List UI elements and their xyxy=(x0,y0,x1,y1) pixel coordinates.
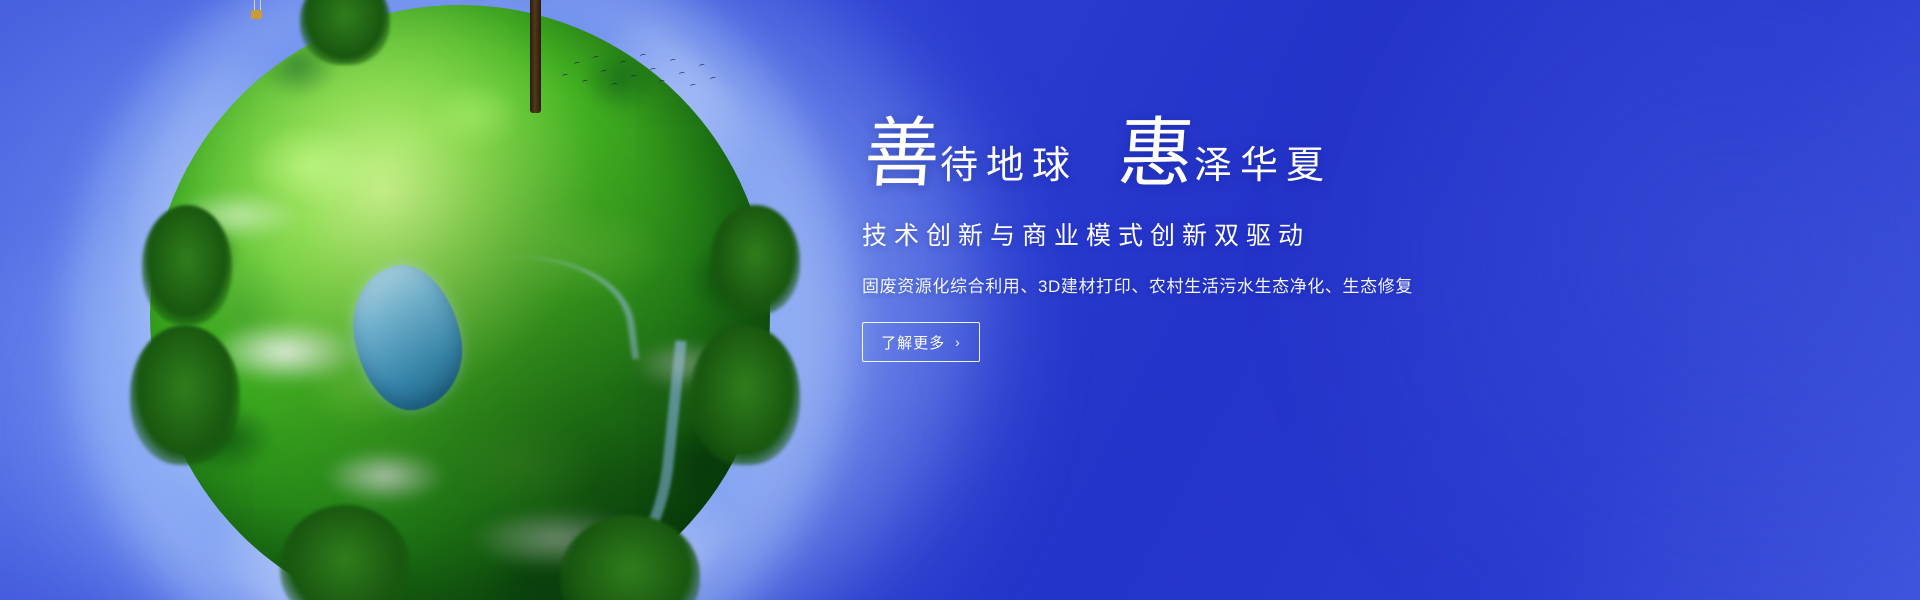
rim-tree-icon xyxy=(130,325,240,465)
hot-air-balloon-icon xyxy=(230,0,286,26)
tree-canopy xyxy=(440,0,630,21)
rim-tree-icon xyxy=(142,205,232,325)
learn-more-button[interactable]: 了解更多 › xyxy=(862,322,980,362)
headline-second-rest: 泽华夏 xyxy=(1194,147,1332,192)
chevron-right-icon: › xyxy=(955,335,961,349)
headline-lead-char: 善 xyxy=(862,116,942,192)
rim-tree-icon xyxy=(690,325,800,465)
banner-description: 固废资源化综合利用、3D建材打印、农村生活污水生态净化、生态修复 xyxy=(862,272,1482,297)
banner-subtitle: 技术创新与商业模式创新双驱动 xyxy=(862,216,1482,252)
headline-lead-rest: 待地球 xyxy=(940,147,1078,192)
rim-tree-icon xyxy=(710,205,800,315)
learn-more-label: 了解更多 xyxy=(881,332,945,353)
banner-content: 善 待地球 惠 泽华夏 技术创新与商业模式创新双驱动 固废资源化综合利用、3D建… xyxy=(862,120,1482,362)
tiny-planet-illustration xyxy=(130,0,790,600)
balloon-basket xyxy=(251,10,262,19)
page-title: 善 待地球 惠 泽华夏 xyxy=(862,120,1482,192)
hero-banner: 善 待地球 惠 泽华夏 技术创新与商业模式创新双驱动 固废资源化综合利用、3D建… xyxy=(0,0,1920,600)
bird-flock-icon xyxy=(560,50,720,110)
headline-second-char: 惠 xyxy=(1116,116,1196,192)
